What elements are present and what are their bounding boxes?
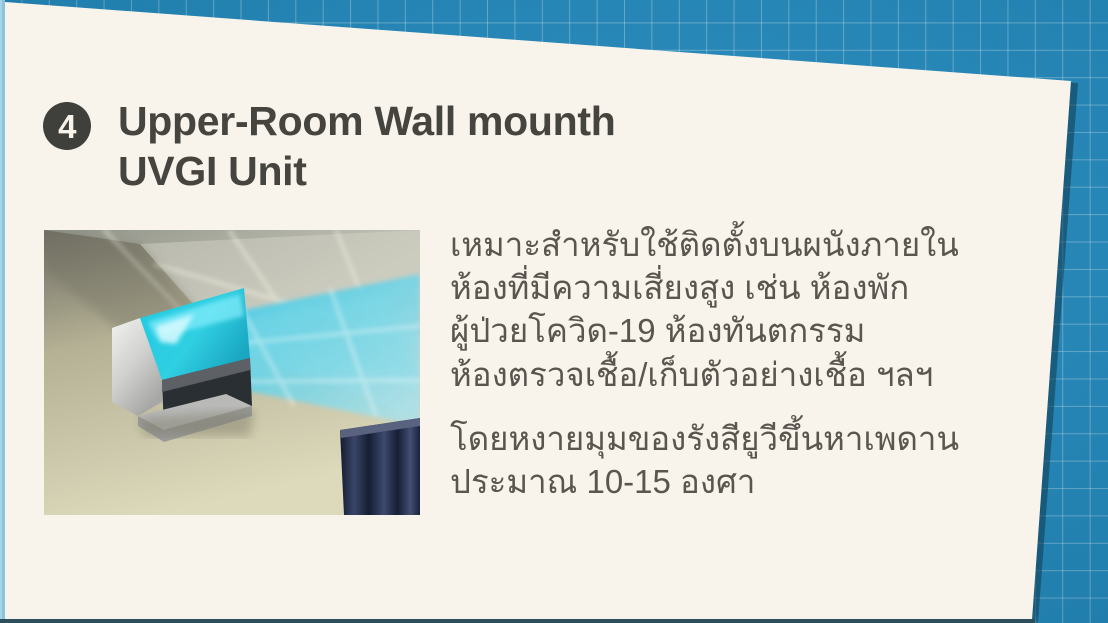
body-copy: เหมาะสำหรับใช้ติดตั้งบนผนังภายใน ห้องที่… xyxy=(450,223,1010,503)
body-paragraph-2: โดยหงายมุมของรังสียูวีขึ้นหาเพดาน ประมาณ… xyxy=(450,417,1010,503)
photo-illustration xyxy=(44,230,420,515)
page-title: Upper-Room Wall mounth UVGI Unit xyxy=(118,96,616,196)
slide-canvas: 4 Upper-Room Wall mounth UVGI Unit xyxy=(0,0,1108,623)
step-number-badge: 4 xyxy=(43,102,91,150)
uvgi-unit-photo xyxy=(44,230,420,515)
body-paragraph-1: เหมาะสำหรับใช้ติดตั้งบนผนังภายใน ห้องที่… xyxy=(450,223,1010,396)
card-content: 4 Upper-Room Wall mounth UVGI Unit xyxy=(0,0,1108,623)
title-row: 4 Upper-Room Wall mounth UVGI Unit xyxy=(43,96,616,196)
